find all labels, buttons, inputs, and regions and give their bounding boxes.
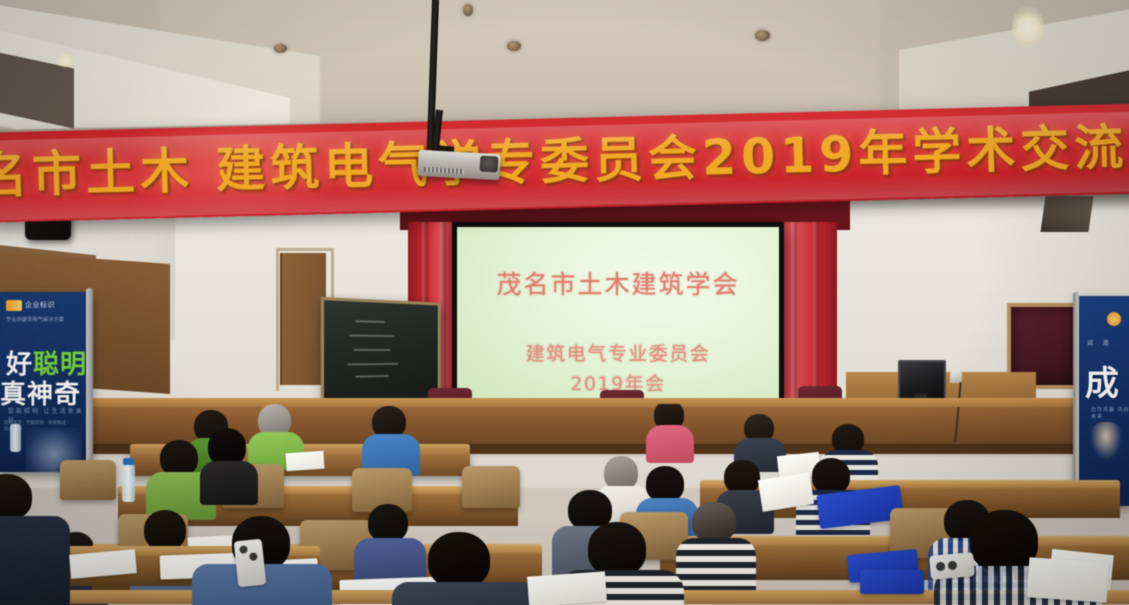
camera-lens-icon — [936, 562, 946, 572]
rollup-right-label: 诚 邀 — [1087, 338, 1113, 347]
ceiling-downlight-icon — [507, 41, 521, 51]
attendee-body — [646, 425, 694, 463]
blackboard — [321, 297, 441, 407]
water-bottle — [122, 464, 135, 502]
smartphone[interactable] — [929, 552, 975, 580]
camera-lens-icon — [948, 561, 958, 571]
camera-lens-icon — [249, 552, 258, 561]
conference-bag — [860, 570, 924, 594]
slide-subtitle-1: 建筑电气专业委员会 — [457, 339, 779, 366]
attendee-head — [812, 458, 850, 494]
attendee-head — [144, 510, 186, 550]
projector-lens-icon — [480, 156, 499, 173]
red-curtain-right — [775, 222, 837, 407]
attendee-head — [724, 460, 760, 494]
audience-area — [0, 404, 1129, 605]
attendee-head — [368, 504, 408, 542]
attendee-head — [646, 466, 684, 502]
rollup-tagline: 专业的建筑电气解决方案 — [6, 316, 64, 323]
ceiling-speaker-right-icon — [1040, 196, 1093, 232]
ceiling-downlight-icon — [755, 30, 770, 41]
attendee-head — [588, 522, 646, 576]
ceiling-spotlight-icon — [1012, 6, 1044, 48]
conference-hall-photo: 茂名市土木建筑学会 建筑电气专业委员会 2019年会 名市土木 建筑电气学专委员… — [0, 0, 1129, 605]
projection-screen-frame: 茂名市土木建筑学会 建筑电气专业委员会 2019年会 — [452, 222, 784, 412]
bottle-cap — [123, 458, 134, 465]
attendee-body — [0, 516, 70, 605]
camera-lens-icon — [239, 545, 248, 554]
attendee-head — [604, 456, 638, 490]
door-left[interactable] — [280, 253, 326, 385]
brand-logo-right-icon — [1107, 312, 1121, 326]
brand-logo-icon — [6, 300, 22, 311]
seat-back — [60, 460, 116, 500]
document — [285, 451, 324, 472]
projection-screen: 茂名市土木建筑学会 建筑电气专业委员会 2019年会 — [457, 227, 779, 407]
ceiling-spotlight-icon — [55, 54, 75, 67]
attendee-body — [392, 582, 538, 605]
attendee-head — [692, 502, 736, 542]
attendee-head — [0, 474, 32, 520]
attendee-body — [676, 538, 756, 596]
attendee-body — [200, 461, 258, 505]
smartphone[interactable] — [234, 539, 267, 588]
attendee-head — [160, 440, 198, 476]
attendee-head — [428, 532, 490, 588]
brand-logo-text: 企业标识 — [25, 300, 55, 310]
ceiling-downlight-icon — [463, 4, 473, 16]
document — [1027, 557, 1110, 602]
slide-title: 茂名市土木建筑学会 — [457, 265, 779, 301]
attendee-head — [970, 510, 1038, 572]
document — [527, 571, 607, 605]
water-bottle — [10, 424, 21, 452]
rollup-right-headline: 成 — [1085, 356, 1119, 405]
ceiling-downlight-icon — [274, 44, 287, 53]
seat-back — [462, 466, 520, 508]
